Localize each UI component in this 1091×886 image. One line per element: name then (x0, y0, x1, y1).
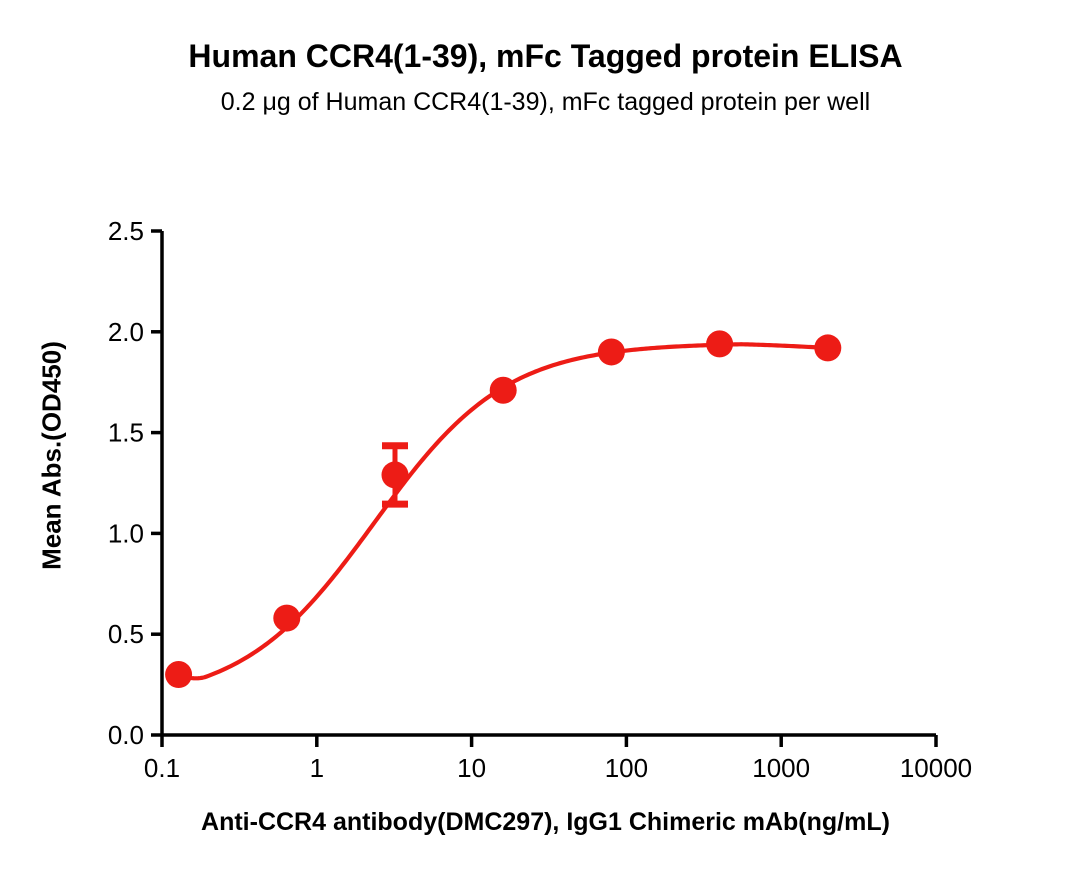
elisa-chart-figure: Human CCR4(1-39), mFc Tagged protein ELI… (0, 0, 1091, 886)
data-point (814, 334, 841, 361)
x-tick-label: 10 (457, 753, 486, 783)
y-tick-label: 2.5 (108, 216, 144, 246)
data-point (381, 461, 408, 488)
x-tick-label: 0.1 (144, 753, 180, 783)
y-tick-label: 0.0 (108, 720, 144, 750)
y-tick-label: 2.0 (108, 317, 144, 347)
y-tick-label: 1.5 (108, 418, 144, 448)
x-tick-label: 100 (605, 753, 648, 783)
y-tick-label: 1.0 (108, 518, 144, 548)
data-point (165, 661, 192, 688)
y-axis-label: Mean Abs.(OD450) (37, 276, 68, 636)
data-point (273, 605, 300, 632)
x-axis-label: Anti-CCR4 antibody(DMC297), IgG1 Chimeri… (0, 808, 1091, 837)
x-tick-label: 10000 (900, 753, 972, 783)
plot-area: 0.00.51.01.52.02.50.1110100100010000 (0, 0, 1091, 886)
data-point (490, 377, 517, 404)
x-tick-label: 1 (310, 753, 324, 783)
data-point (598, 338, 625, 365)
y-tick-label: 0.5 (108, 619, 144, 649)
data-point (706, 330, 733, 357)
x-tick-label: 1000 (752, 753, 810, 783)
